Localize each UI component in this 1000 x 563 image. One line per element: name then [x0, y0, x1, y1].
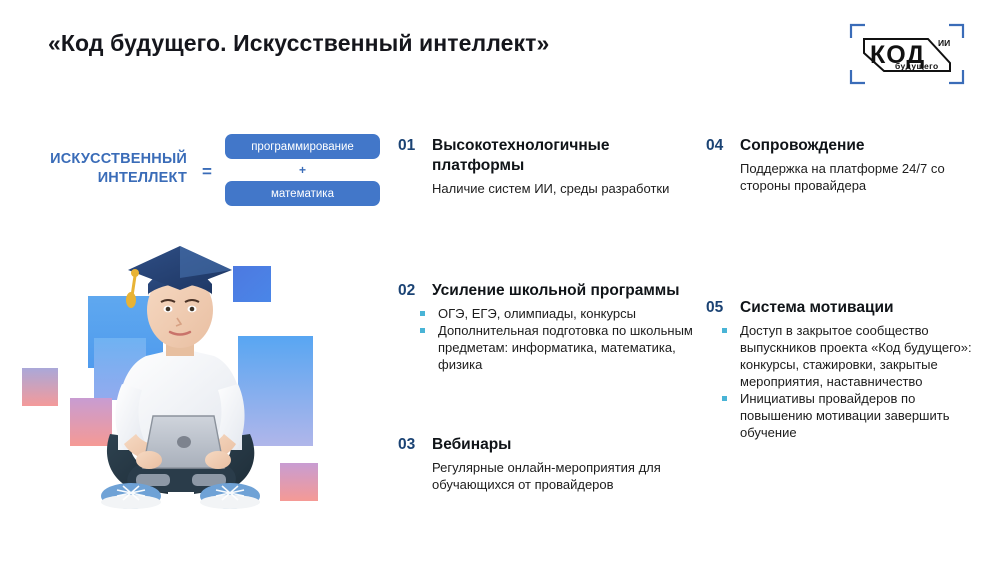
column-left: 01 Высокотехнологичные платформы Наличие…: [398, 136, 698, 493]
bullet-square-icon: [420, 328, 425, 333]
feature-title-02: Усиление школьной программы: [432, 281, 680, 301]
ai-equation: ИСКУССТВЕННЫЙ ИНТЕЛЛЕКТ = программирован…: [42, 134, 382, 218]
feature-number-02: 02: [398, 281, 432, 301]
ai-equation-label: ИСКУССТВЕННЫЙ ИНТЕЛЛЕКТ: [42, 150, 187, 188]
feature-bullets-02: ОГЭ, ЕГЭ, олимпиады, конкурсы Дополнител…: [412, 305, 698, 373]
ai-label-line2: ИНТЕЛЛЕКТ: [98, 170, 187, 186]
feature-title-01: Высокотехнологичные платформы: [432, 136, 698, 176]
bullet-square-icon: [722, 396, 727, 401]
logo-ai-badge: ИИ: [938, 38, 950, 48]
brand-logo[interactable]: КОД будущего ИИ: [848, 22, 966, 86]
feature-title-03: Вебинары: [432, 435, 511, 455]
square-pink-left: [70, 398, 112, 446]
feature-number-03: 03: [398, 435, 432, 455]
ai-label-line1: ИСКУССТВЕННЫЙ: [50, 151, 187, 167]
feature-bullets-05: Доступ в закрытое сообщество выпускников…: [714, 322, 986, 441]
square-blue-right: [238, 336, 313, 446]
bullet-square-icon: [420, 311, 425, 316]
square-pink-far-left: [22, 368, 58, 406]
feature-item-03: 03 Вебинары Регулярные онлайн-мероприяти…: [398, 435, 698, 493]
bullet-text: Инициативы провайдеров по повышению моти…: [740, 391, 949, 440]
ai-equation-terms: программирование + математика: [225, 134, 380, 206]
feature-body-04: Поддержка на платформе 24/7 со стороны п…: [740, 160, 986, 194]
student-illustration: [18, 238, 363, 523]
square-blue-top-right: [233, 266, 271, 302]
feature-title-04: Сопровождение: [740, 136, 865, 156]
logo-subtext: будущего: [895, 61, 939, 71]
feature-body-03: Регулярные онлайн-мероприятия для обучаю…: [432, 459, 698, 493]
list-item: Дополнительная подготовка по школьным пр…: [412, 322, 698, 373]
column-right: 04 Сопровождение Поддержка на платформе …: [706, 136, 986, 457]
page-title: «Код будущего. Искусственный интеллект»: [48, 30, 549, 57]
feature-item-05: 05 Система мотивации Доступ в закрытое с…: [706, 298, 986, 441]
feature-number-01: 01: [398, 136, 432, 156]
bullet-text: Дополнительная подготовка по школьным пр…: [438, 323, 693, 372]
feature-number-04: 04: [706, 136, 740, 156]
bullet-square-icon: [722, 328, 727, 333]
list-item: Доступ в закрытое сообщество выпускников…: [714, 322, 986, 390]
bullet-text: ОГЭ, ЕГЭ, олимпиады, конкурсы: [438, 306, 636, 321]
pill-programming[interactable]: программирование: [225, 134, 380, 159]
list-item: Инициативы провайдеров по повышению моти…: [714, 390, 986, 441]
pill-mathematics[interactable]: математика: [225, 181, 380, 206]
feature-body-01: Наличие систем ИИ, среды разработки: [432, 180, 698, 197]
feature-title-05: Система мотивации: [740, 298, 894, 318]
list-item: ОГЭ, ЕГЭ, олимпиады, конкурсы: [412, 305, 698, 322]
slide-root: { "slide": { "title": "«Код будущего. Ис…: [0, 0, 1000, 563]
feature-item-04: 04 Сопровождение Поддержка на платформе …: [706, 136, 986, 194]
feature-item-01: 01 Высокотехнологичные платформы Наличие…: [398, 136, 698, 197]
feature-item-02: 02 Усиление школьной программы ОГЭ, ЕГЭ,…: [398, 281, 698, 373]
equals-sign: =: [202, 162, 212, 182]
square-pink-bottom: [280, 463, 318, 501]
bullet-text: Доступ в закрытое сообщество выпускников…: [740, 323, 972, 389]
feature-number-05: 05: [706, 298, 740, 318]
plus-sign: +: [225, 159, 380, 181]
